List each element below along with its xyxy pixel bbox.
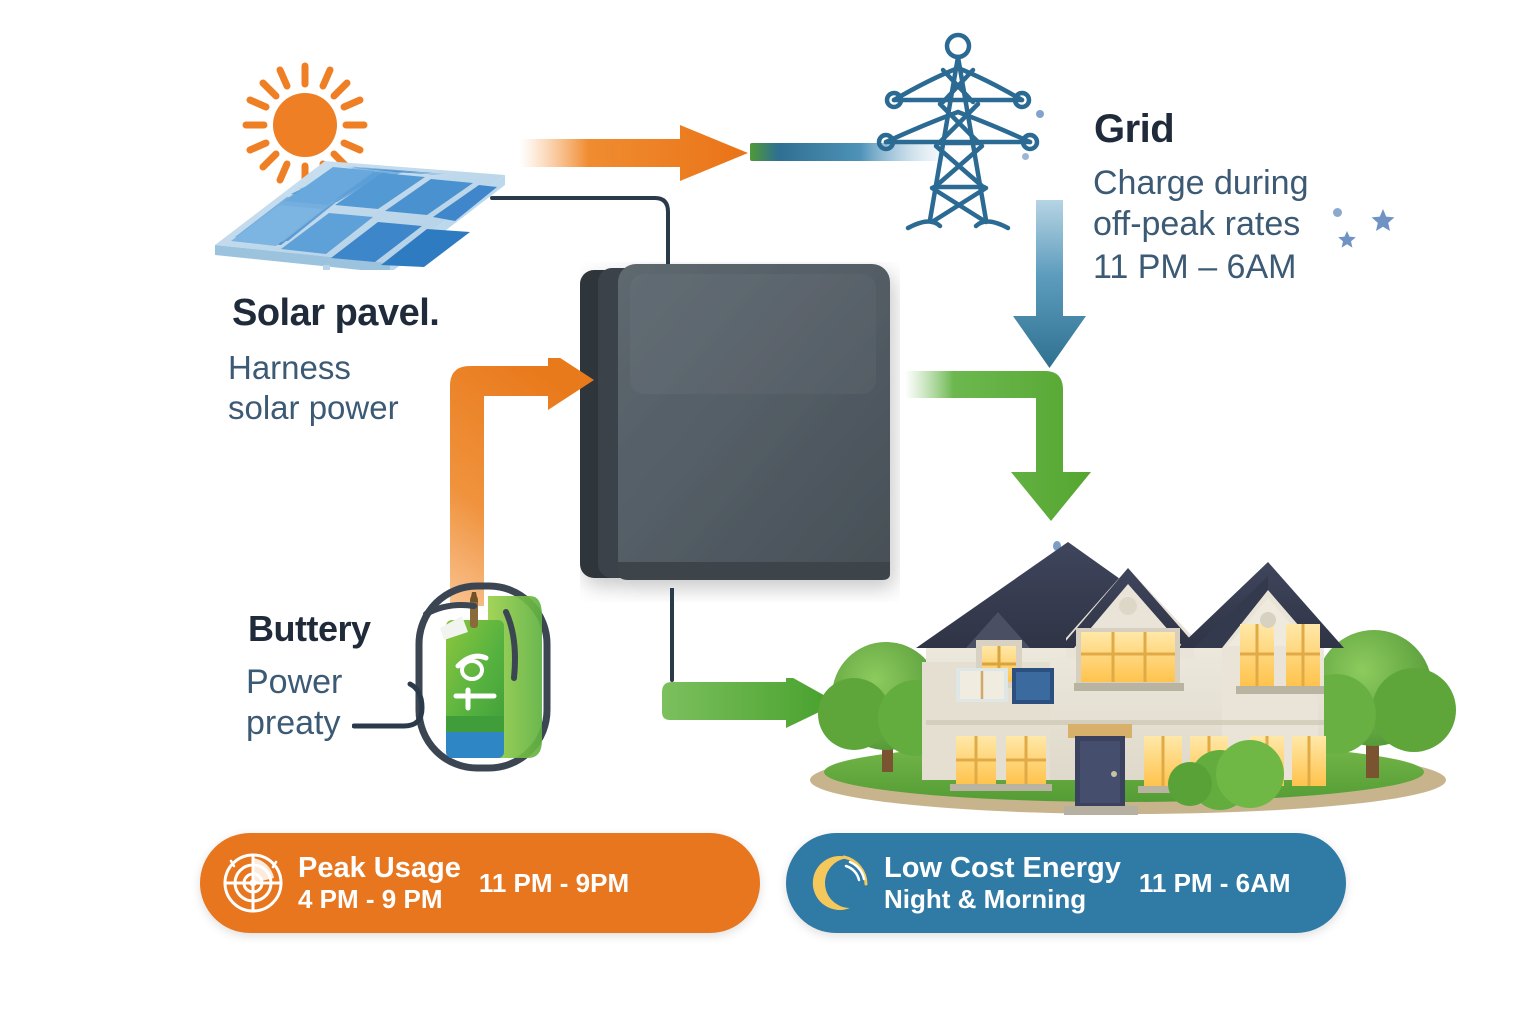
star-large-icon: [1370, 208, 1396, 239]
moon-icon: [804, 848, 874, 918]
legend-peak-time: 11 PM - 9PM: [479, 868, 629, 899]
legend-peak-heading: Peak Usage: [298, 853, 461, 884]
house-icon: [798, 528, 1458, 820]
legend-pill-low-cost-energy[interactable]: Low Cost Energy Night & Morning 11 PM - …: [786, 833, 1346, 933]
battery-callout-connector: [352, 668, 462, 738]
star-small-icon: [1337, 230, 1357, 255]
dot-2: [1036, 110, 1044, 118]
legend-lowcost-subheading: Night & Morning: [884, 885, 1121, 913]
infographic-canvas: Solar pavel. Harness solar power: [0, 0, 1536, 1024]
legend-pill-peak-usage[interactable]: Peak Usage 4 PM - 9 PM 11 PM - 9PM: [200, 833, 760, 933]
storage-to-house-elbow-arrow: [905, 368, 1105, 523]
legend-peak-texts: Peak Usage 4 PM - 9 PM: [298, 853, 461, 912]
legend-lowcost-heading: Low Cost Energy: [884, 853, 1121, 884]
solar-panel-icon: [175, 145, 515, 270]
gauge-icon: [218, 848, 288, 918]
legend-lowcost-time: 11 PM - 6AM: [1139, 868, 1291, 899]
battery-subtitle: Power preaty: [246, 662, 342, 745]
dot-3: [1022, 153, 1029, 160]
solar-panel-title: Solar pavel.: [232, 292, 439, 335]
grid-to-house-arrow: [1008, 200, 1098, 370]
legend-lowcost-texts: Low Cost Energy Night & Morning: [884, 853, 1121, 912]
solar-to-grid-arrow: [520, 125, 750, 185]
dot-1: [1333, 208, 1342, 217]
solar-panel-subtitle: Harness solar power: [228, 348, 399, 429]
grid-subtitle: Charge during off-peak rates: [1093, 163, 1308, 246]
window-upper-center: [1074, 628, 1184, 691]
battery-to-storage-elbow-arrow: [448, 358, 598, 608]
battery-title: Buttery: [248, 608, 371, 650]
window-upper-left: [956, 668, 1054, 704]
grid-title: Grid: [1094, 107, 1174, 152]
legend-peak-subheading: 4 PM - 9 PM: [298, 885, 461, 913]
grid-time: 11 PM – 6AM: [1093, 247, 1296, 288]
